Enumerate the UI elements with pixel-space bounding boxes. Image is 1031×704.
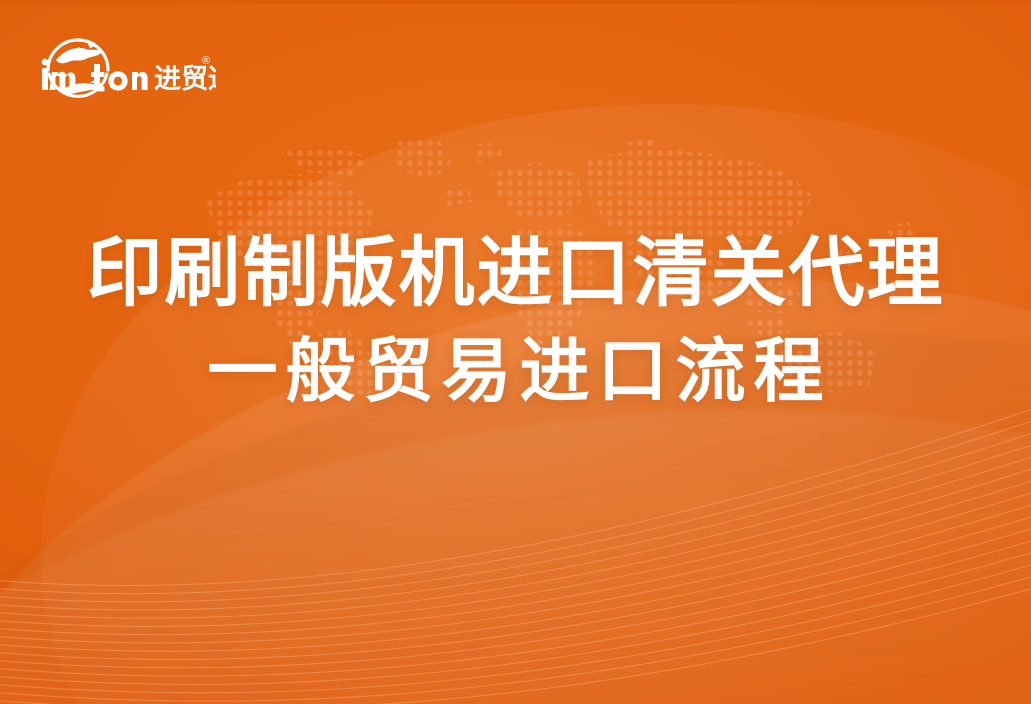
poster-banner: 进贸通 ® 印刷制版机进口清关代理 一般贸易进口流程 [0,0,1031,704]
svg-text:进贸通: 进贸通 [154,64,216,94]
title-line-2: 一般贸易进口流程 [0,336,1031,406]
headline-block: 印刷制版机进口清关代理 一般贸易进口流程 [0,236,1031,406]
fine-curved-stripes [0,404,1031,704]
brand-logo[interactable]: 进贸通 ® [36,26,216,104]
trademark-symbol: ® [202,55,210,67]
title-line-1: 印刷制版机进口清关代理 [0,236,1031,312]
logo-chinese-text: 进贸通 ® [154,55,216,94]
top-edge-strip [0,0,1031,4]
